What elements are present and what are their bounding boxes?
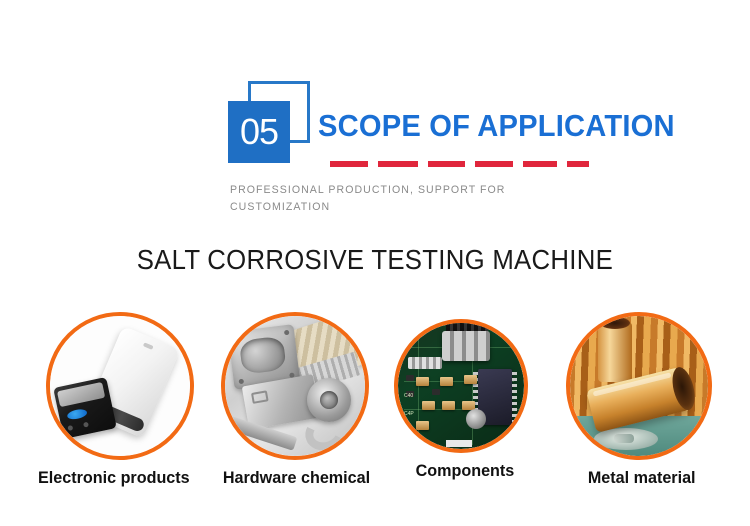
card-caption: Electronic products <box>32 468 196 488</box>
dash-segment <box>523 161 557 167</box>
section-title: SCOPE OF APPLICATION <box>318 108 675 144</box>
application-card-hardware-chemical: Hardware chemical <box>221 312 371 488</box>
section-number-badge: 05 <box>228 81 310 163</box>
metal-disc-icon <box>594 428 658 450</box>
application-card-components: C40 C4P Components <box>386 312 536 481</box>
pcb-round-component-icon <box>466 409 486 429</box>
pcb-capacitor-bank-icon <box>442 331 490 361</box>
circle-frame <box>46 312 194 460</box>
metal-material-photo <box>570 316 708 456</box>
slide-canvas: 05 SCOPE OF APPLICATION PROFESSIONAL PRO… <box>0 0 750 526</box>
dash-segment <box>330 161 368 167</box>
circle-frame <box>221 312 369 460</box>
black-device-icon <box>53 377 117 439</box>
circle-frame: C40 C4P <box>394 319 528 453</box>
hardware-chemical-photo <box>225 316 365 456</box>
card-caption-text: Electronic products <box>38 468 190 488</box>
header-section: 05 SCOPE OF APPLICATION PROFESSIONAL PRO… <box>0 0 750 230</box>
dash-segment <box>378 161 418 167</box>
dash-segment <box>475 161 513 167</box>
badge-number-text: 05 <box>228 101 290 163</box>
pcb-header-icon <box>408 357 442 369</box>
electronic-products-photo <box>50 316 190 456</box>
components-pcb-photo: C40 C4P <box>398 323 524 449</box>
dash-segment <box>428 161 465 167</box>
copper-tube-icon <box>598 322 632 382</box>
product-title-text: SALT CORROSIVE TESTING MACHINE <box>137 244 613 276</box>
card-caption: Hardware chemical <box>219 468 371 488</box>
card-caption-text: Components <box>415 461 514 481</box>
pcb-white-marker <box>446 440 472 447</box>
dash-segment <box>567 161 589 167</box>
card-caption-text: Hardware chemical <box>223 468 370 488</box>
card-caption-text: Metal material <box>588 468 696 488</box>
section-subtitle: PROFESSIONAL PRODUCTION, SUPPORT FOR CUS… <box>230 182 547 216</box>
product-title: SALT CORROSIVE TESTING MACHINE <box>0 244 750 276</box>
card-caption: Metal material <box>568 468 716 488</box>
application-card-metal-material: Metal material <box>566 312 716 488</box>
red-dash-divider <box>330 161 589 167</box>
circle-frame <box>566 312 712 460</box>
card-caption: Components <box>393 461 536 481</box>
application-cards-row: Electronic products <box>0 312 750 512</box>
application-card-electronic-products: Electronic products <box>46 312 196 488</box>
